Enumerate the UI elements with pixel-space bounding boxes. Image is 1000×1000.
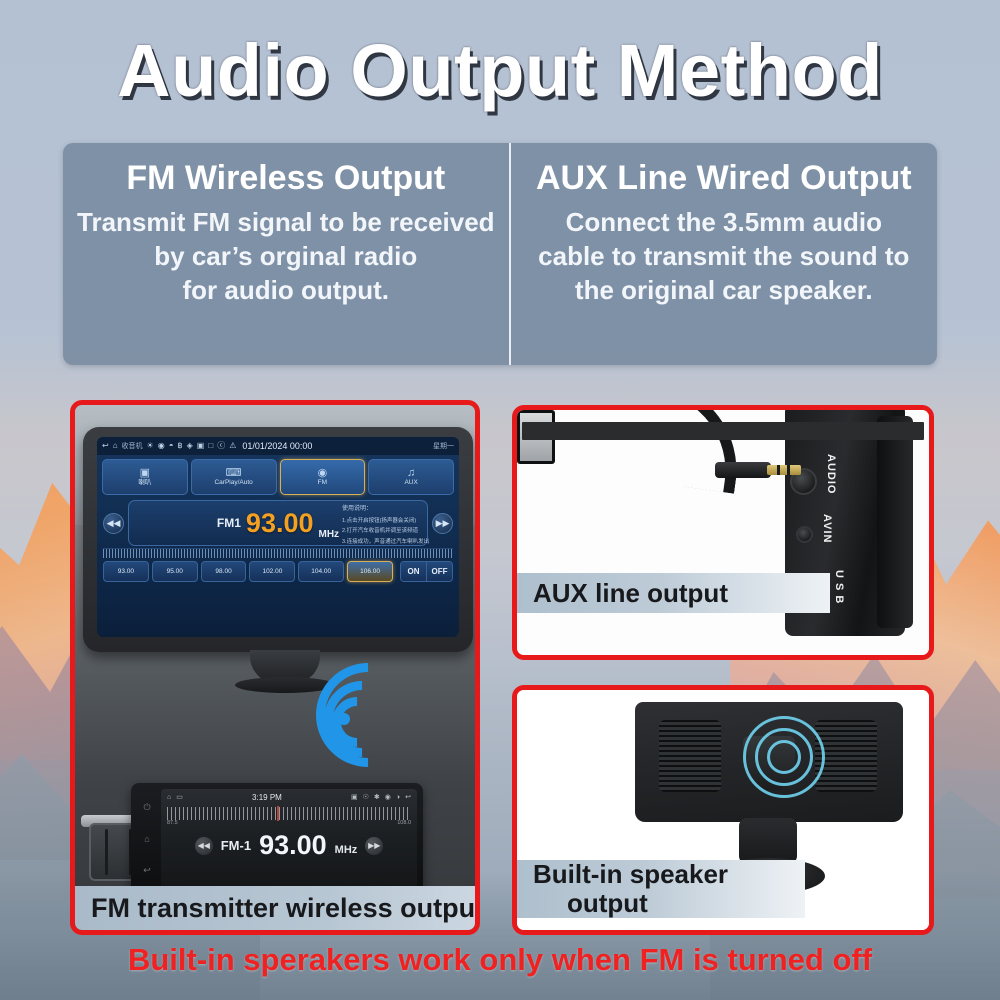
tab-aux-label: AUX: [404, 480, 417, 487]
panel-fm-line-3: for audio output.: [77, 274, 495, 308]
footer-warning: Built-in sperakers work only when FM is …: [0, 942, 1000, 978]
audio-port-label: AUDIO: [825, 454, 837, 494]
usage-instructions: 使用说明： 1.点击开启按钮(扬声器会关闭) 2.打开汽车收音机并调至该频道 3…: [342, 503, 454, 547]
panel-aux-line-1: Connect the 3.5mm audio: [538, 206, 909, 240]
aux-line-card: AUDIO AVIN U S B AUX line output: [512, 405, 934, 660]
panel-fm-line-2: by car’s orginal radio: [77, 240, 495, 274]
radio-clock: 3:19 PM: [252, 793, 282, 802]
radio-side-buttons: ⏻ ⌂ ↩: [137, 791, 157, 887]
preset-button-selected[interactable]: 106.00: [347, 561, 393, 582]
wifi-icon: ◑: [396, 794, 400, 801]
status-datetime: 01/01/2024 00:00: [242, 441, 312, 451]
radio-prev-button[interactable]: ◀◀: [195, 837, 213, 855]
tuner-band: FM1: [217, 516, 241, 530]
speaker-caption-line-1: Built-in speaker: [533, 860, 728, 889]
panel-fm-body: Transmit FM signal to be received by car…: [77, 206, 495, 307]
power-on-button[interactable]: ON: [401, 562, 426, 581]
back-icon[interactable]: ↩: [102, 442, 109, 450]
antenna-icon: ◉: [318, 468, 328, 479]
brightness-icon: ☀: [147, 442, 154, 450]
car-original-radio: ⏻ ⌂ ↩ ⌂ ▭ 3:19 PM ▣ ☉ ✱ ◉ ◑ ↩: [131, 783, 423, 895]
aux-photo: AUDIO AVIN U S B: [517, 410, 929, 655]
tuner-unit: MHz: [319, 529, 340, 545]
avin-port-label: AVIN: [821, 514, 833, 543]
mute-icon: ◉: [385, 793, 391, 801]
infographic-stage: Audio Output Method FM Wireless Output T…: [0, 0, 1000, 1000]
device-rear-shell: [635, 702, 903, 822]
jack-tip: [767, 465, 801, 475]
copyright-icon: ⓒ: [217, 442, 225, 450]
power-toggle: ON OFF: [400, 561, 453, 582]
car-dashboard-photo: ↩ ⌂ 收音机 ☀ ◉ ◓ ฿ ◈ ▣ □ ⓒ ⚠ 01/01/2024 00:…: [75, 405, 475, 930]
avin-port: [796, 526, 813, 543]
speaker-card-caption: Built-in speaker output: [517, 860, 805, 918]
preset-buttons: 93.00 95.00 98.00 102.00 104.00 106.00 O…: [97, 558, 459, 582]
fm-transmitter-card: ↩ ⌂ 收音机 ☀ ◉ ◓ ฿ ◈ ▣ □ ⓒ ⚠ 01/01/2024 00:…: [70, 400, 480, 935]
frequency-scale: [103, 548, 453, 558]
preset-button[interactable]: 93.00: [103, 561, 149, 582]
power-off-button[interactable]: OFF: [426, 562, 452, 581]
warning-icon: ⚠: [229, 442, 236, 450]
tuner-prev-button[interactable]: ◀◀: [103, 513, 124, 534]
home-icon[interactable]: ⌂: [167, 794, 171, 801]
sd-card-icon: □: [208, 442, 213, 450]
sd-card-icon: ▣: [351, 793, 358, 801]
power-icon[interactable]: ⏻: [143, 802, 150, 813]
instruction-step-2: 2.打开汽车收音机并调至该频道: [342, 526, 454, 536]
speaker-icon: ▣: [140, 468, 150, 479]
device-back-body: [877, 416, 913, 628]
location-icon: ◉: [158, 442, 165, 450]
tab-carplay-auto[interactable]: ⌨ CarPlay/Auto: [191, 459, 277, 495]
radio-unit: MHz: [335, 844, 358, 859]
tab-fm[interactable]: ◉ FM: [280, 459, 366, 495]
status-weekday: 星期一: [433, 441, 454, 451]
phone-icon: ⌨: [226, 468, 242, 479]
preset-button[interactable]: 98.00: [201, 561, 247, 582]
head-unit-tabs: ▣ 喇叭 ⌨ CarPlay/Auto ◉ FM ♫: [97, 455, 459, 497]
jack-body: [715, 462, 771, 478]
fm-card-caption: FM transmitter wireless output: [75, 886, 480, 930]
wifi-icon: ◓: [169, 442, 174, 450]
instruction-step-1: 1.点击开启按钮(扬声器会关闭): [342, 516, 454, 526]
instruction-step-3: 3.连接成功，声音通过汽车喇叭发出: [342, 537, 454, 547]
back-icon[interactable]: ↩: [405, 793, 411, 801]
preset-button[interactable]: 104.00: [298, 561, 344, 582]
back-icon[interactable]: ↩: [143, 865, 151, 876]
page-title: Audio Output Method: [117, 28, 883, 113]
status-app-label: 收音机: [122, 441, 143, 451]
radio-frequency-row: ◀◀ FM-1 93.00 MHz ▶▶: [161, 832, 417, 859]
panel-fm-title: FM Wireless Output: [126, 159, 445, 198]
speaker-grille-left: [659, 720, 721, 792]
panel-aux-line-3: the original car speaker.: [538, 274, 909, 308]
tab-fm-label: FM: [318, 480, 327, 487]
tab-aux[interactable]: ♫ AUX: [368, 459, 454, 495]
builtin-speaker-card: Built-in speaker output: [512, 685, 934, 935]
scale-end-label: 108.0: [397, 820, 411, 826]
usb-port-label: U S B: [833, 570, 845, 604]
tab-carplay-label: CarPlay/Auto: [214, 480, 252, 487]
panel-aux-body: Connect the 3.5mm audio cable to transmi…: [538, 206, 909, 307]
preset-button[interactable]: 95.00: [152, 561, 198, 582]
home-icon[interactable]: ⌂: [144, 834, 149, 844]
head-unit-status-bar: ↩ ⌂ 收音机 ☀ ◉ ◓ ฿ ◈ ▣ □ ⓒ ⚠ 01/01/2024 00:…: [97, 437, 459, 455]
aux-cable: [545, 405, 748, 494]
panel-aux-wired: AUX Line Wired Output Connect the 3.5mm …: [511, 143, 937, 365]
radio-scale-labels: 87.5 108.0: [161, 820, 417, 826]
aux-jack-plug: [715, 462, 801, 478]
home-icon[interactable]: ⌂: [113, 442, 118, 450]
scale-start-label: 87.5: [167, 820, 178, 826]
wireless-signal-waves: [330, 655, 450, 755]
radio-screen: ⌂ ▭ 3:19 PM ▣ ☉ ✱ ◉ ◑ ↩ 87.5: [161, 789, 417, 889]
info-panels: FM Wireless Output Transmit FM signal to…: [63, 143, 937, 365]
title-band: Audio Output Method: [0, 16, 1000, 124]
instructions-heading: 使用说明：: [342, 503, 454, 512]
bluetooth-icon: ฿: [178, 442, 183, 450]
battery-icon: ▣: [197, 442, 205, 450]
bluetooth-icon: ✱: [374, 793, 380, 801]
sound-ring-3: [743, 716, 825, 798]
location-icon: ☉: [363, 793, 369, 801]
tuner-frequency: 93.00: [246, 510, 314, 537]
head-unit-device: ↩ ⌂ 收音机 ☀ ◉ ◓ ฿ ◈ ▣ □ ⓒ ⚠ 01/01/2024 00:…: [83, 427, 473, 652]
volume-icon: ◈: [187, 442, 193, 450]
cable-icon: ♫: [407, 468, 415, 479]
head-unit-screen: ↩ ⌂ 收音机 ☀ ◉ ◓ ฿ ◈ ▣ □ ⓒ ⚠ 01/01/2024 00:…: [97, 437, 459, 637]
panel-fm-wireless: FM Wireless Output Transmit FM signal to…: [63, 143, 511, 365]
screen-icon[interactable]: ▭: [176, 793, 183, 801]
panel-aux-line-2: cable to transmit the sound to: [538, 240, 909, 274]
tab-speaker[interactable]: ▣ 喇叭: [102, 459, 188, 495]
aux-card-caption: AUX line output: [517, 573, 830, 613]
panel-fm-line-1: Transmit FM signal to be received: [77, 206, 495, 240]
radio-band: FM-1: [221, 838, 251, 853]
radio-tuning-scale[interactable]: [167, 807, 411, 820]
radio-frequency: 93.00: [259, 832, 327, 859]
speaker-caption-line-2: output: [533, 889, 728, 918]
tab-speaker-label: 喇叭: [138, 480, 151, 487]
radio-status-bar: ⌂ ▭ 3:19 PM ▣ ☉ ✱ ◉ ◑ ↩: [161, 789, 417, 805]
radio-next-button[interactable]: ▶▶: [365, 837, 383, 855]
device-mount-base: [235, 677, 335, 693]
tuning-needle: [277, 806, 279, 821]
panel-aux-title: AUX Line Wired Output: [536, 159, 912, 198]
preset-button[interactable]: 102.00: [249, 561, 295, 582]
